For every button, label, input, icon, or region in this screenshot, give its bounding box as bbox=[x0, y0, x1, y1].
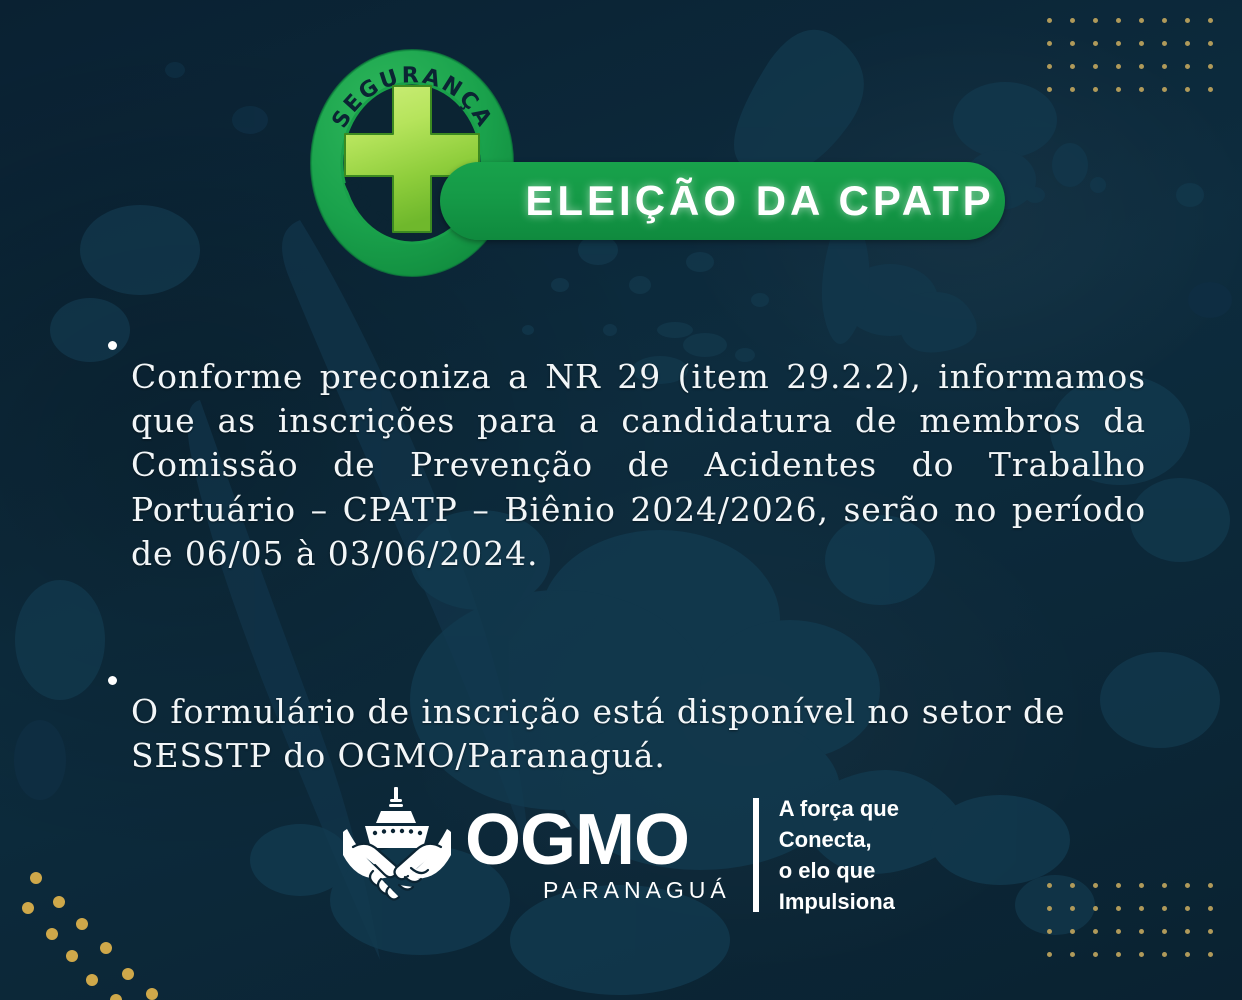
bullet-marker-icon bbox=[108, 676, 117, 685]
announcement-body: Conforme preconiza a NR 29 (item 29.2.2)… bbox=[108, 322, 1146, 812]
decorative-dot bbox=[1116, 18, 1121, 23]
ogmo-brand-city: PARANAGUÁ bbox=[543, 877, 731, 904]
decorative-dot bbox=[1070, 18, 1075, 23]
decorative-dot bbox=[1093, 18, 1098, 23]
decorative-dot bbox=[1162, 952, 1167, 957]
decorative-dot bbox=[1116, 952, 1121, 957]
decorative-dot-large bbox=[86, 974, 98, 986]
decorative-dot bbox=[1070, 952, 1075, 957]
ogmo-brand-name: OGMO bbox=[465, 806, 689, 875]
title-banner: ELEIÇÃO DA CPATP bbox=[440, 162, 1005, 240]
decorative-dot bbox=[1093, 952, 1098, 957]
poster-header: SEGURANÇA DO TRABALHO ELEIÇÃO DA CPATP bbox=[0, 44, 1242, 294]
poster-canvas: SEGURANÇA DO TRABALHO ELEIÇÃO DA CPATP C… bbox=[0, 0, 1242, 1000]
handshake-port-shield-icon bbox=[343, 785, 451, 925]
bullet-text-2: O formulário de inscrição está disponíve… bbox=[131, 690, 1146, 778]
decorative-dot bbox=[1139, 18, 1144, 23]
decorative-dot-large bbox=[146, 988, 158, 1000]
ogmo-wordmark: OGMO PARANAGUÁ bbox=[465, 806, 731, 904]
decorative-dot bbox=[1047, 952, 1052, 957]
poster-title: ELEIÇÃO DA CPATP bbox=[450, 177, 994, 225]
tagline-line-4: Impulsiona bbox=[779, 886, 899, 917]
bullet-text-1: Conforme preconiza a NR 29 (item 29.2.2)… bbox=[131, 355, 1146, 576]
bullet-item: Conforme preconiza a NR 29 (item 29.2.2)… bbox=[108, 322, 1146, 609]
decorative-dot-large bbox=[122, 968, 134, 980]
tagline-line-2: Conecta, bbox=[779, 824, 899, 855]
tagline-line-1: A força que bbox=[779, 793, 899, 824]
footer-divider bbox=[753, 798, 759, 912]
decorative-dot-large bbox=[110, 994, 122, 1000]
decorative-dot bbox=[1185, 952, 1190, 957]
decorative-dot-large bbox=[66, 950, 78, 962]
decorative-dot bbox=[1208, 18, 1213, 23]
decorative-dot bbox=[1047, 18, 1052, 23]
decorative-dot-large bbox=[100, 942, 112, 954]
decorative-dot bbox=[1139, 952, 1144, 957]
decorative-dot bbox=[1185, 18, 1190, 23]
ogmo-tagline: A força que Conecta, o elo que Impulsion… bbox=[779, 793, 899, 918]
poster-footer: OGMO PARANAGUÁ A força que Conecta, o el… bbox=[0, 780, 1242, 930]
decorative-dot bbox=[1162, 18, 1167, 23]
decorative-dot bbox=[1208, 952, 1213, 957]
tagline-line-3: o elo que bbox=[779, 855, 899, 886]
bullet-marker-icon bbox=[108, 341, 117, 350]
